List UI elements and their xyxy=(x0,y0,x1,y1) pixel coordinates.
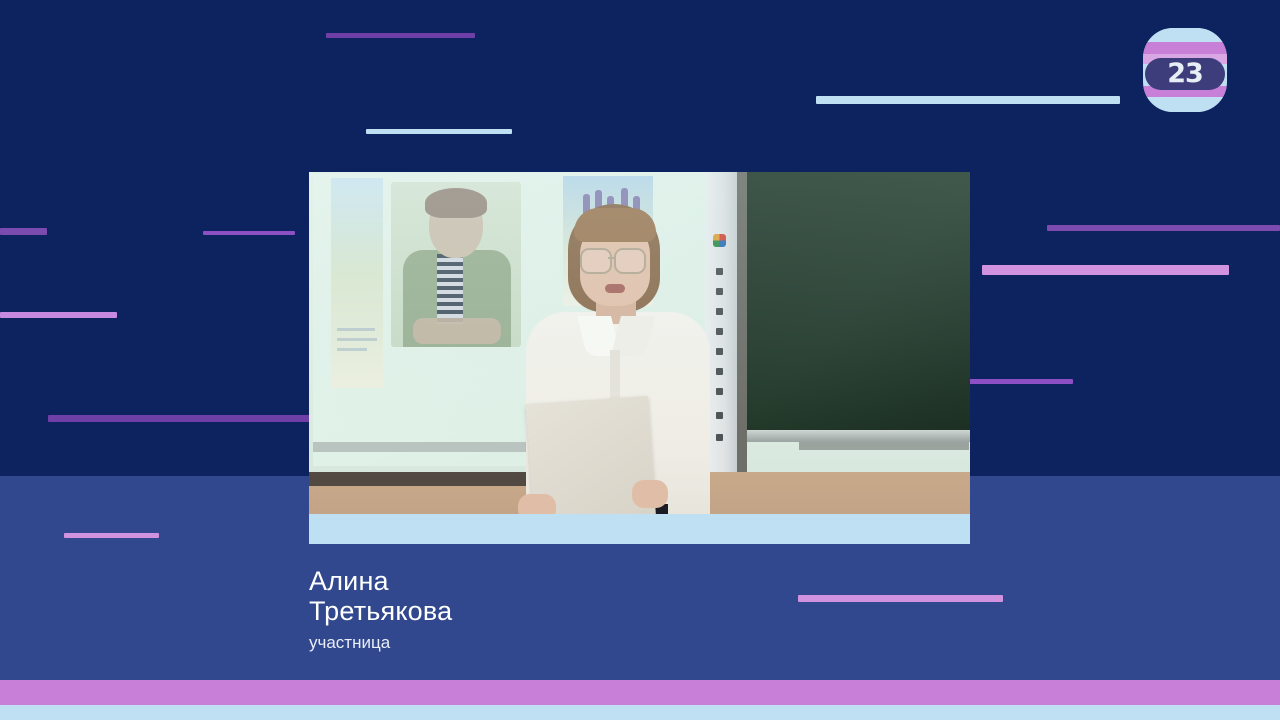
deco-line-9 xyxy=(968,379,1073,384)
presenter-first-name: Алина xyxy=(309,566,729,596)
channel-logo: 23 xyxy=(1143,28,1227,112)
broadcast-screen: 23 xyxy=(0,0,1280,720)
deco-line-11 xyxy=(64,533,159,538)
classroom-scene xyxy=(309,172,970,544)
deco-line-2 xyxy=(816,96,1120,104)
portrait-striped-shirt xyxy=(437,254,463,324)
deco-line-1 xyxy=(326,33,475,38)
deco-line-5 xyxy=(203,231,295,235)
logo-stripe-sky-top xyxy=(1143,28,1227,42)
presenter-mouth xyxy=(605,284,625,293)
projected-poster-left xyxy=(331,178,383,388)
presenter-last-name: Третьякова xyxy=(309,596,729,626)
deco-line-6 xyxy=(1047,225,1280,231)
video-feed[interactable] xyxy=(309,172,970,544)
chalk-tray xyxy=(747,430,970,442)
lower-third-name-block: Алина Третьякова участница xyxy=(309,566,729,654)
presenter-hair-top xyxy=(574,208,656,242)
presenter-glasses-bridge xyxy=(608,257,614,259)
presenter-glasses-left-lens xyxy=(580,248,612,274)
presenter-glasses-right-lens xyxy=(614,248,646,274)
logo-number: 23 xyxy=(1143,58,1227,90)
presenter-role: участница xyxy=(309,632,729,654)
logo-stripe-pink-top xyxy=(1143,42,1227,54)
presenter-right-hand xyxy=(632,480,668,508)
background-band-sky xyxy=(0,705,1280,720)
background-band-pink xyxy=(0,680,1280,705)
lower-third-accent-bar xyxy=(309,514,970,544)
chalk-tray-shadow xyxy=(799,442,969,450)
deco-line-8 xyxy=(0,312,117,318)
deco-line-4 xyxy=(0,228,47,235)
chalkboard xyxy=(747,172,970,432)
deco-line-12 xyxy=(798,595,1003,602)
deco-line-7 xyxy=(982,265,1229,275)
presenter xyxy=(464,204,764,544)
deco-line-10 xyxy=(48,415,310,422)
deco-line-3 xyxy=(366,129,512,134)
logo-stripe-sky-bottom xyxy=(1143,97,1227,112)
